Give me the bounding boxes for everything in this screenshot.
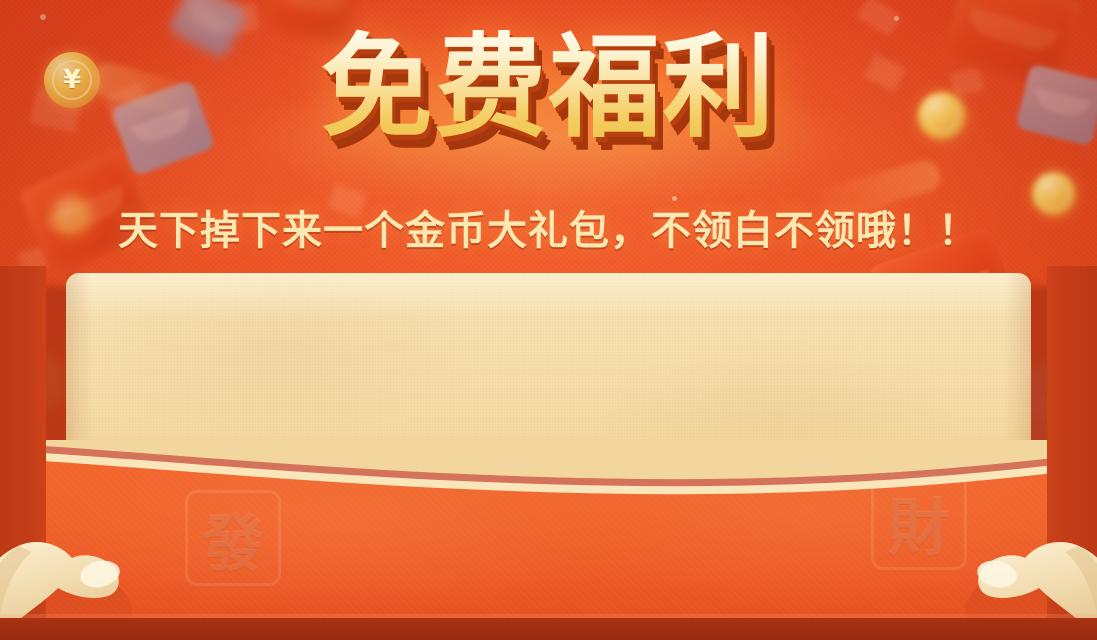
title-block: 免费福利 <box>0 22 1097 154</box>
sparkle-dot <box>40 14 46 20</box>
page-title: 免费福利 <box>321 22 777 154</box>
bottom-strip <box>0 618 1097 640</box>
card-top-highlight <box>66 273 1031 319</box>
sparkle-dot <box>894 16 899 21</box>
promo-banner: ¥ 免费福利 天下掉下来一个金币大礼包，不领白不领哦！！ 發 財 <box>0 0 1097 640</box>
pocket-lip-curve <box>43 440 1054 510</box>
page-subtitle: 天下掉下来一个金币大礼包，不领白不领哦！！ <box>0 198 1097 256</box>
envelope-pocket: 發 財 <box>43 440 1054 630</box>
